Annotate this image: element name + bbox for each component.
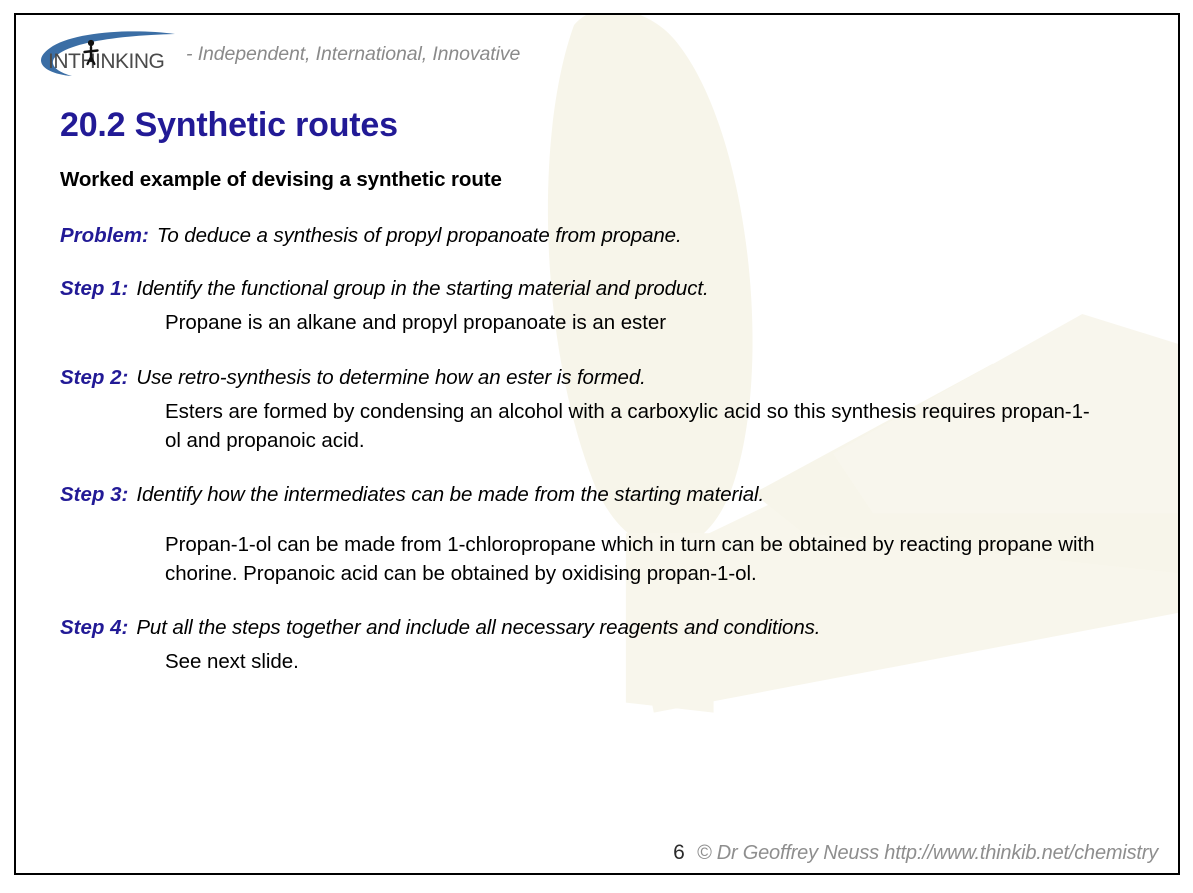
lead-line: Problem: To deduce a synthesis of propyl… bbox=[60, 222, 1160, 249]
content-block-problem: Problem: To deduce a synthesis of propyl… bbox=[60, 222, 1160, 249]
lead-line: Step 1: Identify the functional group in… bbox=[60, 275, 1160, 302]
slide-subtitle: Worked example of devising a synthetic r… bbox=[60, 168, 1160, 192]
block-detail: Propane is an alkane and propyl propanoa… bbox=[165, 308, 1100, 337]
page-title: 20.2 Synthetic routes bbox=[60, 107, 1160, 144]
slide-canvas: INTHINKING - Independent, International,… bbox=[14, 13, 1180, 875]
block-lead-text: Use retro-synthesis to determine how an … bbox=[136, 364, 645, 391]
lead-line: Step 2: Use retro-synthesis to determine… bbox=[60, 364, 1160, 391]
content-block-step-1: Step 1: Identify the functional group in… bbox=[60, 275, 1160, 337]
lead-line: Step 4: Put all the steps together and i… bbox=[60, 614, 1160, 641]
block-detail: Propan-1-ol can be made from 1-chloropro… bbox=[165, 530, 1100, 588]
content-block-step-3: Step 3: Identify how the intermediates c… bbox=[60, 481, 1160, 588]
block-lead-text: Identify the functional group in the sta… bbox=[136, 275, 708, 302]
lead-line: Step 3: Identify how the intermediates c… bbox=[60, 481, 1160, 508]
block-label: Step 4: bbox=[60, 614, 128, 641]
logo-swoosh-icon: INTHINKING bbox=[32, 30, 178, 78]
block-label: Step 2: bbox=[60, 364, 128, 391]
block-detail: See next slide. bbox=[165, 647, 1100, 676]
content-block-step-2: Step 2: Use retro-synthesis to determine… bbox=[60, 364, 1160, 455]
inthinking-logo: INTHINKING bbox=[32, 30, 178, 78]
slide-footer: 6 © Dr Geoffrey Neuss http://www.thinkib… bbox=[673, 841, 1158, 865]
slide-content: 20.2 Synthetic routes Worked example of … bbox=[60, 107, 1160, 702]
svg-text:INTHINKING: INTHINKING bbox=[48, 50, 164, 73]
block-lead-text: Put all the steps together and include a… bbox=[136, 614, 820, 641]
block-lead-text: To deduce a synthesis of propyl propanoa… bbox=[157, 222, 682, 249]
block-detail: Esters are formed by condensing an alcoh… bbox=[165, 397, 1100, 455]
copyright-credit: © Dr Geoffrey Neuss http://www.thinkib.n… bbox=[697, 842, 1158, 865]
content-block-step-4: Step 4: Put all the steps together and i… bbox=[60, 614, 1160, 676]
block-label: Problem: bbox=[60, 222, 149, 249]
block-label: Step 3: bbox=[60, 481, 128, 508]
block-label: Step 1: bbox=[60, 275, 128, 302]
brand-header: INTHINKING - Independent, International,… bbox=[32, 27, 520, 81]
page-number: 6 bbox=[673, 841, 685, 865]
block-lead-text: Identify how the intermediates can be ma… bbox=[136, 481, 764, 508]
brand-tagline: - Independent, International, Innovative bbox=[186, 43, 520, 66]
